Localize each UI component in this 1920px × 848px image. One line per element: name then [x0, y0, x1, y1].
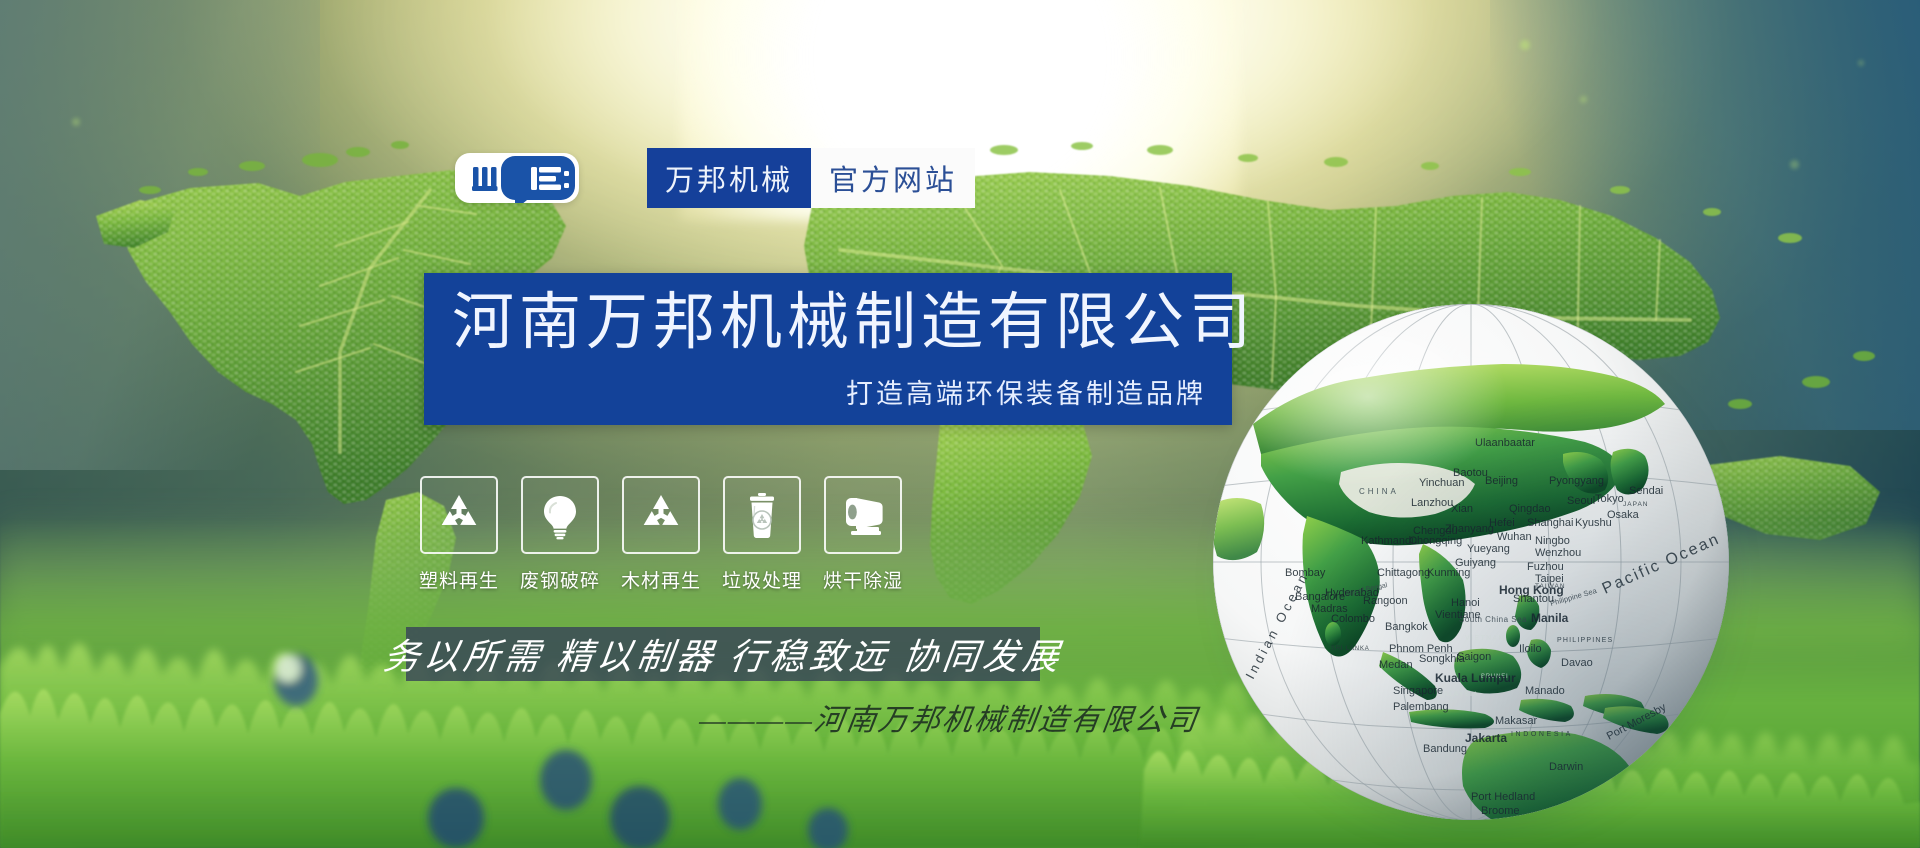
globe-label-city: Iloilo: [1519, 643, 1542, 655]
globe-label-city: Jakarta: [1465, 731, 1507, 745]
service-item-drying-dehumidifying[interactable]: 烘干除湿: [824, 476, 902, 593]
globe-label-city: Sendai: [1629, 485, 1663, 497]
service-label: 垃圾处理: [722, 566, 802, 593]
logo-letter-b: [501, 156, 575, 203]
globe-label-city: Zhanyang: [1445, 523, 1494, 535]
service-label: 木材再生: [621, 566, 701, 593]
recycle-icon: [434, 490, 484, 540]
globe-label-city: Shantou: [1513, 593, 1554, 605]
service-item-waste-treatment[interactable]: 垃圾处理: [723, 476, 801, 593]
company-logo[interactable]: [455, 153, 579, 203]
lightbulb-icon: [535, 490, 585, 540]
globe-label-city: Baotou: [1453, 467, 1488, 479]
service-item-scrap-steel-crushing[interactable]: 废钢破碎: [521, 476, 599, 593]
globe-label-city: Bangkok: [1385, 621, 1428, 633]
dryer-machine-icon: [837, 490, 889, 540]
globe-label-city: Medan: [1379, 659, 1413, 671]
globe-label-country: PHILIPPINES: [1557, 637, 1613, 644]
service-item-plastic-recycling[interactable]: 塑料再生: [420, 476, 498, 593]
globe-label-city: Bandung: [1423, 743, 1467, 755]
company-tagline: 打造高端环保装备制造品牌: [846, 372, 1206, 411]
globe-label-city: Lanzhou: [1411, 497, 1453, 509]
service-icon-box: [622, 476, 700, 554]
globe-label-country: INDONESIA: [1511, 731, 1573, 738]
globe-label-city: Hanoi: [1451, 597, 1480, 609]
globe-label-city: Manila: [1531, 611, 1569, 625]
nav-item-official-site[interactable]: 官方网站: [811, 148, 975, 208]
globe-3d: Pacific Ocean Indian Ocean South China S…: [1205, 296, 1745, 836]
globe-sphere: Pacific Ocean Indian Ocean South China S…: [1213, 304, 1729, 820]
globe-label-city: Tokyo: [1595, 493, 1624, 505]
service-icon-box: [521, 476, 599, 554]
logo-mark: [455, 153, 579, 203]
globe-label-city: Wenzhou: [1535, 547, 1581, 559]
service-icon-row: 塑料再生 废钢破碎: [420, 476, 902, 593]
service-icon-box: [824, 476, 902, 554]
globe-label-city: Bombay: [1285, 567, 1326, 579]
bokeh-speck: [1580, 96, 1587, 103]
globe-label-city: Seoul: [1567, 495, 1595, 507]
globe-label-city: Fuzhou: [1527, 561, 1564, 573]
globe-label-country: VIETNAM: [1465, 635, 1506, 642]
globe-label-city: Qingdao: [1509, 503, 1551, 515]
globe-label-city: Kuala Lumpur: [1435, 671, 1516, 685]
globe-label-city: Darwin: [1549, 761, 1583, 773]
brand-bar: 万邦机械 官方网站: [455, 148, 975, 208]
slogan-signature: ————河南万邦机械制造有限公司: [697, 695, 1223, 739]
globe-label-city: Beijing: [1485, 475, 1518, 487]
globe-label-country: CHINA: [1359, 487, 1399, 496]
logo-letter-w: [472, 167, 498, 191]
globe-label-city: Kyushu: [1575, 517, 1612, 529]
company-name: 河南万邦机械制造有限公司: [452, 287, 1256, 358]
site-nav: 万邦机械 官方网站: [647, 148, 975, 208]
bokeh-speck: [1790, 160, 1799, 169]
globe-label-city: Osaka: [1607, 509, 1640, 521]
globe-label-city: Madras: [1311, 603, 1348, 615]
service-label: 塑料再生: [419, 566, 499, 593]
globe-label-city: Broome: [1481, 805, 1520, 817]
globe-label-city: Pyongyang: [1549, 475, 1604, 487]
globe-label-city: Kathmandu: [1361, 535, 1417, 547]
globe-label-city: Guiyang: [1455, 557, 1496, 569]
globe-label-city: Songkhla: [1419, 653, 1466, 665]
globe-label-country: SRI LANKA: [1331, 646, 1370, 652]
slogan-band: 务以所需 精以制器 行稳致远 协同发展: [406, 627, 1040, 681]
globe-label-city: Vientiane: [1435, 609, 1481, 621]
globe-label-city: Singapore: [1393, 685, 1443, 697]
globe-label-city: Shanghai: [1527, 517, 1574, 529]
service-label: 烘干除湿: [823, 566, 903, 593]
globe-label-city: Wuhan: [1497, 531, 1532, 543]
hero-banner-stage: Pacific Ocean Indian Ocean South China S…: [0, 0, 1920, 848]
service-label: 废钢破碎: [520, 566, 600, 593]
globe-label-city: Xian: [1451, 503, 1473, 515]
slogan-text: 务以所需 精以制器 行稳致远 协同发展: [380, 628, 1065, 680]
globe-label-city: Manado: [1525, 685, 1565, 697]
globe-label-city: Ulaanbaatar: [1475, 437, 1535, 449]
globe-label-city: Davao: [1561, 657, 1593, 669]
trash-bin-icon: [737, 490, 787, 540]
bokeh-speck: [72, 118, 80, 126]
service-icon-box: [420, 476, 498, 554]
bokeh-speck: [1520, 40, 1530, 50]
bokeh-speck: [1858, 60, 1864, 66]
nav-item-brand[interactable]: 万邦机械: [647, 148, 811, 208]
company-banner: 河南万邦机械制造有限公司 打造高端环保装备制造品牌: [424, 273, 1232, 425]
globe-label-city: Port Hedland: [1471, 791, 1535, 803]
globe-label-city: Palembang: [1393, 701, 1449, 713]
service-icon-box: [723, 476, 801, 554]
globe-label-city: Yueyang: [1467, 543, 1510, 555]
globe-label-city: Makasar: [1495, 715, 1538, 727]
globe-label-city: Ningbo: [1535, 535, 1570, 547]
globe-label-city: Chittagong: [1377, 567, 1430, 579]
service-item-wood-recycling[interactable]: 木材再生: [622, 476, 700, 593]
globe-label-country: JAPAN: [1623, 501, 1648, 508]
globe-label-country: MALAYSIA: [1437, 691, 1479, 698]
globe-label-city: Taipei: [1535, 573, 1564, 585]
recycle-icon: [636, 490, 686, 540]
globe-label-city: Rangoon: [1363, 595, 1408, 607]
